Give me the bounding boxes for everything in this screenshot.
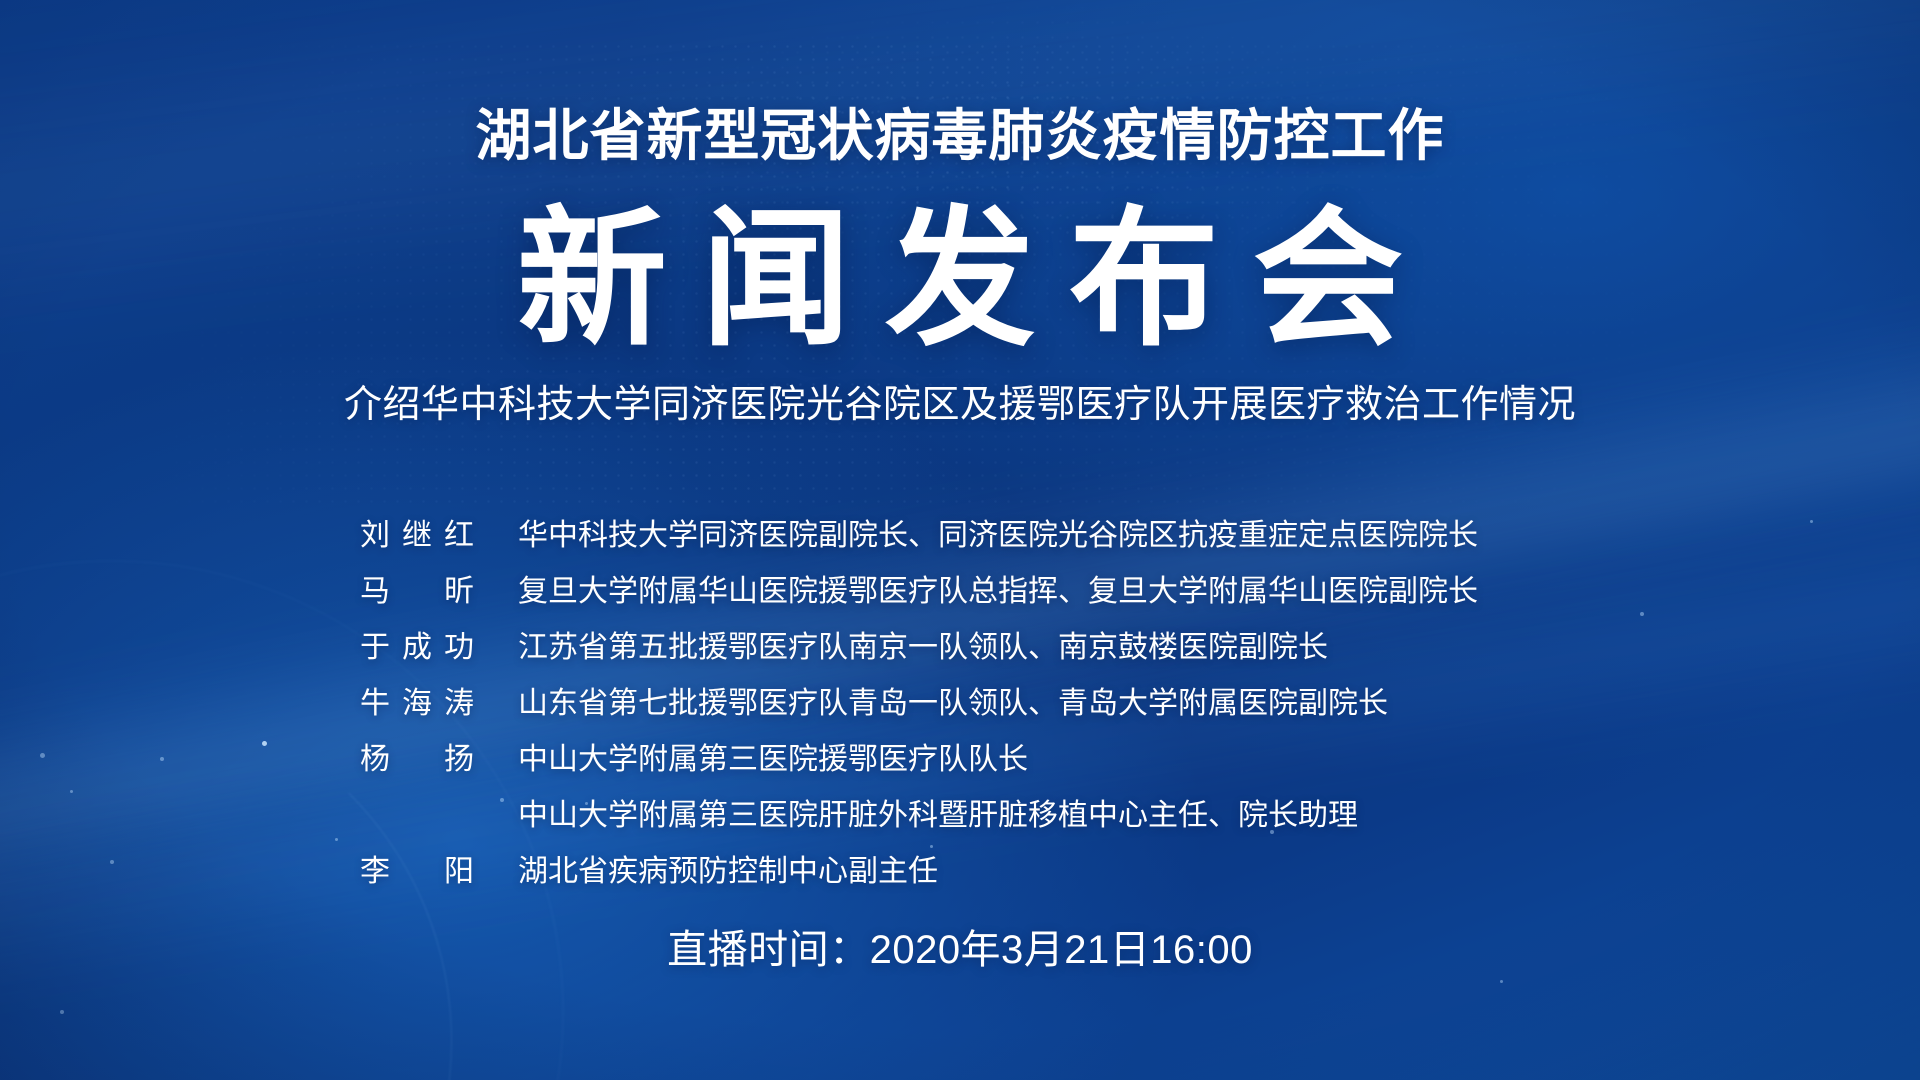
speaker-row: 杨 扬 中山大学附属第三医院援鄂医疗队队长 中山大学附属第三医院肝脏外科暨肝脏移… <box>360 732 1560 844</box>
poster-subtitle: 介绍华中科技大学同济医院光谷院区及援鄂医疗队开展医疗救治工作情况 <box>344 386 1576 424</box>
speaker-list: 刘继红 华中科技大学同济医院副院长、同济医院光谷院区抗疫重症定点医院院长 马 昕… <box>0 508 1920 900</box>
speaker-name: 李 阳 <box>360 844 518 900</box>
speaker-row: 刘继红 华中科技大学同济医院副院长、同济医院光谷院区抗疫重症定点医院院长 <box>360 508 1560 564</box>
speaker-row: 于成功 江苏省第五批援鄂医疗队南京一队领队、南京鼓楼医院副院长 <box>360 620 1560 676</box>
speaker-title-line: 中山大学附属第三医院肝脏外科暨肝脏移植中心主任、院长助理 <box>518 788 1560 844</box>
poster-content: 湖北省新型冠状病毒肺炎疫情防控工作 新闻发布会 介绍华中科技大学同济医院光谷院区… <box>0 0 1920 1080</box>
speaker-name: 杨 扬 <box>360 732 518 788</box>
speaker-titles: 江苏省第五批援鄂医疗队南京一队领队、南京鼓楼医院副院长 <box>518 620 1560 676</box>
speaker-titles: 湖北省疾病预防控制中心副主任 <box>518 844 1560 900</box>
speaker-title-line: 中山大学附属第三医院援鄂医疗队队长 <box>518 732 1560 788</box>
speaker-title-line: 山东省第七批援鄂医疗队青岛一队领队、青岛大学附属医院副院长 <box>518 676 1560 732</box>
press-conference-poster: 湖北省新型冠状病毒肺炎疫情防控工作 新闻发布会 介绍华中科技大学同济医院光谷院区… <box>0 0 1920 1080</box>
speaker-titles: 中山大学附属第三医院援鄂医疗队队长 中山大学附属第三医院肝脏外科暨肝脏移植中心主… <box>518 732 1560 844</box>
speaker-name: 刘继红 <box>360 508 518 564</box>
speaker-titles: 复旦大学附属华山医院援鄂医疗队总指挥、复旦大学附属华山医院副院长 <box>518 564 1560 620</box>
poster-main-title: 新闻发布会 <box>483 198 1437 360</box>
speaker-name: 马 昕 <box>360 564 518 620</box>
speaker-title-line: 湖北省疾病预防控制中心副主任 <box>518 844 1560 900</box>
broadcast-time: 直播时间：2020年3月21日16:00 <box>667 930 1253 970</box>
poster-eyebrow-title: 湖北省新型冠状病毒肺炎疫情防控工作 <box>476 108 1445 164</box>
speaker-title-line: 复旦大学附属华山医院援鄂医疗队总指挥、复旦大学附属华山医院副院长 <box>518 564 1560 620</box>
speaker-titles: 山东省第七批援鄂医疗队青岛一队领队、青岛大学附属医院副院长 <box>518 676 1560 732</box>
speaker-name: 牛海涛 <box>360 676 518 732</box>
speaker-titles: 华中科技大学同济医院副院长、同济医院光谷院区抗疫重症定点医院院长 <box>518 508 1560 564</box>
speaker-name: 于成功 <box>360 620 518 676</box>
speaker-row: 马 昕 复旦大学附属华山医院援鄂医疗队总指挥、复旦大学附属华山医院副院长 <box>360 564 1560 620</box>
speaker-title-line: 江苏省第五批援鄂医疗队南京一队领队、南京鼓楼医院副院长 <box>518 620 1560 676</box>
speaker-row: 牛海涛 山东省第七批援鄂医疗队青岛一队领队、青岛大学附属医院副院长 <box>360 676 1560 732</box>
speaker-row: 李 阳 湖北省疾病预防控制中心副主任 <box>360 844 1560 900</box>
speaker-title-line: 华中科技大学同济医院副院长、同济医院光谷院区抗疫重症定点医院院长 <box>518 508 1560 564</box>
